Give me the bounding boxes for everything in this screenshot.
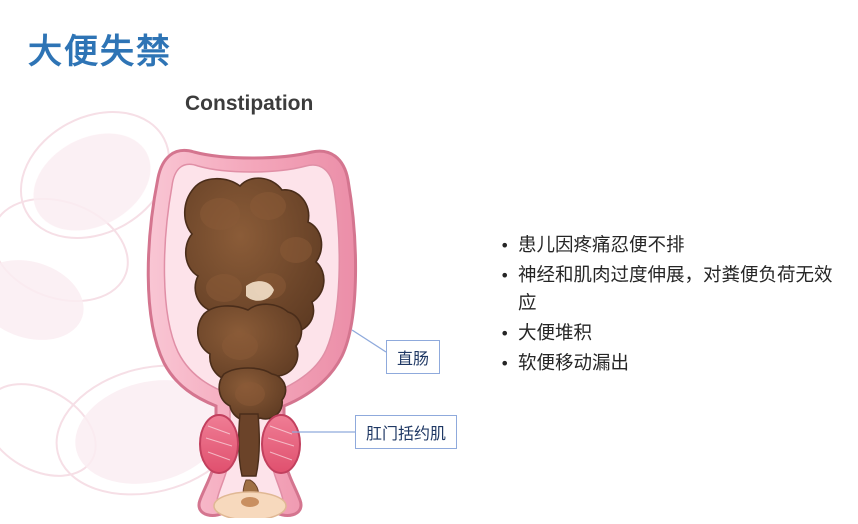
callout-anal-sphincter: 肛门括约肌 bbox=[355, 415, 457, 449]
bullet-marker: • bbox=[500, 262, 518, 290]
list-item: • 患儿因疼痛忍便不排 bbox=[500, 232, 840, 260]
list-item: • 神经和肌肉过度伸展，对粪便负荷无效应 bbox=[500, 262, 840, 318]
list-item-text: 软便移动漏出 bbox=[518, 350, 840, 378]
figure-caption: Constipation bbox=[185, 92, 313, 116]
list-item-text: 患儿因疼痛忍便不排 bbox=[518, 232, 840, 260]
constipation-anatomy-illustration bbox=[120, 118, 410, 518]
bullet-marker: • bbox=[500, 320, 518, 348]
bullet-list: • 患儿因疼痛忍便不排 • 神经和肌肉过度伸展，对粪便负荷无效应 • 大便堆积 … bbox=[500, 232, 840, 380]
slide: 大便失禁 Constipation bbox=[0, 0, 858, 524]
list-item: • 软便移动漏出 bbox=[500, 350, 840, 378]
callout-rectum: 直肠 bbox=[386, 340, 440, 374]
bullet-marker: • bbox=[500, 350, 518, 378]
list-item-text: 神经和肌肉过度伸展，对粪便负荷无效应 bbox=[518, 262, 840, 318]
bullet-marker: • bbox=[500, 232, 518, 260]
list-item: • 大便堆积 bbox=[500, 320, 840, 348]
list-item-text: 大便堆积 bbox=[518, 320, 840, 348]
page-title: 大便失禁 bbox=[28, 24, 172, 73]
